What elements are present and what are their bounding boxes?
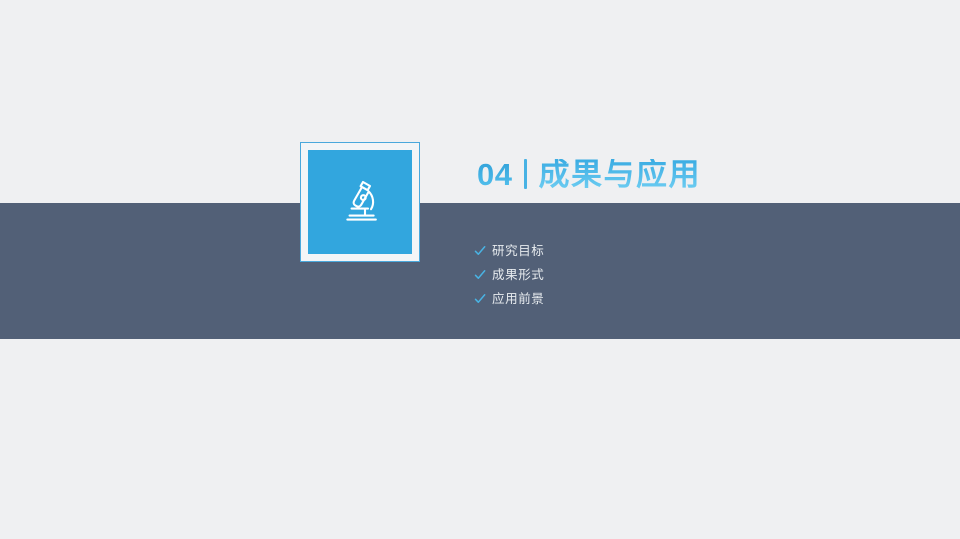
- check-icon: [474, 245, 486, 257]
- list-item: 应用前景: [474, 287, 544, 311]
- section-title-text: 成果与应用: [538, 159, 701, 190]
- section-icon-inner: [308, 150, 412, 254]
- section-icon-card: [300, 142, 420, 262]
- slide-canvas: 04 成果与应用 研究目标 成果形式 应用前景: [0, 0, 960, 539]
- title-separator-bar: [524, 159, 527, 189]
- list-item-label: 成果形式: [492, 269, 544, 282]
- list-item-label: 研究目标: [492, 245, 544, 258]
- check-icon: [474, 293, 486, 305]
- list-item: 研究目标: [474, 239, 544, 263]
- check-icon: [474, 269, 486, 281]
- microscope-icon: [337, 177, 383, 227]
- section-agenda-list: 研究目标 成果形式 应用前景: [474, 239, 544, 311]
- list-item-label: 应用前景: [492, 293, 544, 306]
- list-item: 成果形式: [474, 263, 544, 287]
- section-title: 04 成果与应用: [477, 153, 701, 195]
- section-number: 04: [477, 159, 512, 190]
